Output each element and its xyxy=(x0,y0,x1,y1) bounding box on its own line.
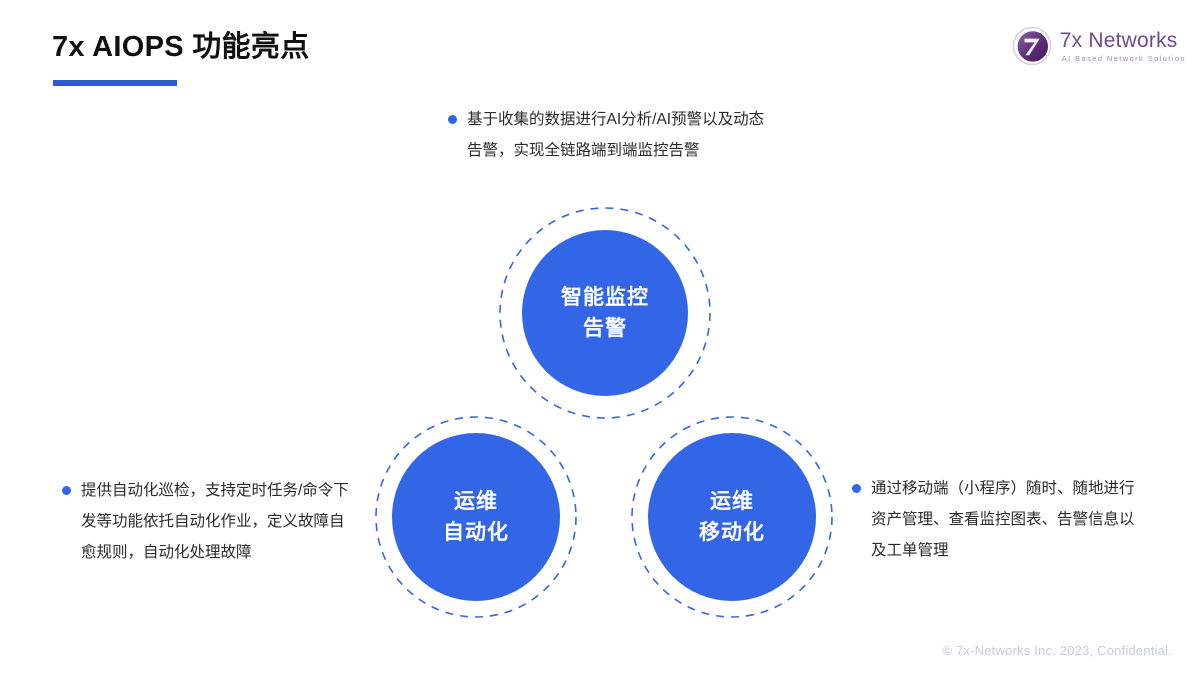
callout-monitoring: 基于收集的数据进行AI分析/AI预警以及动态告警，实现全链路端到端监控告警 xyxy=(448,104,768,166)
node-label-line1: 智能监控 xyxy=(561,282,649,314)
node-ops-mobility[interactable]: 运维 移动化 xyxy=(648,433,816,601)
bullet-dot-icon xyxy=(448,115,457,124)
callout-automation: 提供自动化巡检，支持定时任务/命令下发等功能依托自动化作业，定义故障自愈规则，自… xyxy=(62,475,352,568)
callout-text: 基于收集的数据进行AI分析/AI预警以及动态告警，实现全链路端到端监控告警 xyxy=(467,104,768,166)
callout-text: 提供自动化巡检，支持定时任务/命令下发等功能依托自动化作业，定义故障自愈规则，自… xyxy=(81,475,352,568)
bullet-dot-icon xyxy=(852,484,861,493)
footer-copyright: © 7x-Networks Inc. 2023, Confidential. xyxy=(942,643,1172,658)
bullet-dot-icon xyxy=(62,486,71,495)
node-label-line1: 运维 xyxy=(454,486,498,518)
title-underline-rule xyxy=(53,80,177,86)
slide-canvas: 7x AIOPS 功能亮点 7x Networks AI Based Netwo… xyxy=(0,0,1200,676)
page-title: 7x AIOPS 功能亮点 xyxy=(52,23,309,65)
node-intelligent-monitoring[interactable]: 智能监控 告警 xyxy=(522,230,688,396)
callout-text: 通过移动端（小程序）随时、随地进行资产管理、查看监控图表、告警信息以及工单管理 xyxy=(871,473,1142,566)
node-label-line1: 运维 xyxy=(710,486,754,518)
node-label-line2: 移动化 xyxy=(699,517,765,549)
logo-mark-icon xyxy=(1012,26,1052,66)
node-label-line2: 自动化 xyxy=(443,517,509,549)
node-ops-automation[interactable]: 运维 自动化 xyxy=(392,433,560,601)
logo-tagline: AI Based Network Solution xyxy=(1062,55,1186,63)
logo-name: 7x Networks xyxy=(1060,30,1186,51)
callout-mobility: 通过移动端（小程序）随时、随地进行资产管理、查看监控图表、告警信息以及工单管理 xyxy=(852,473,1142,566)
node-label-line2: 告警 xyxy=(583,313,627,345)
logo-text-block: 7x Networks AI Based Network Solution xyxy=(1060,30,1186,63)
brand-logo: 7x Networks AI Based Network Solution xyxy=(1012,26,1186,66)
